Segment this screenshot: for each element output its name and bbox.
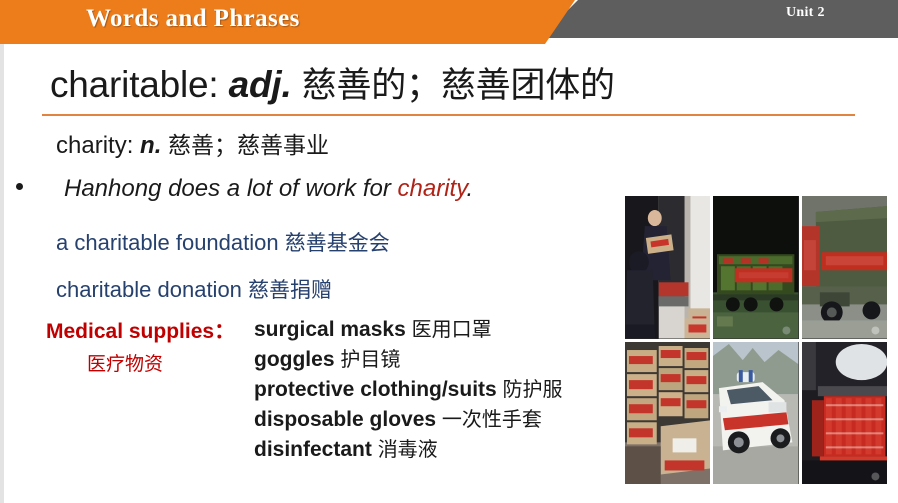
photo-stacked-boxes <box>625 342 710 485</box>
title-divider <box>42 114 855 116</box>
phrase-english: a charitable foundation <box>56 230 285 255</box>
medical-supplies-label: Medical supplies： <box>46 315 235 345</box>
sentence-before: Hanhong does a lot of work for <box>64 175 398 202</box>
subword-term: charity: <box>56 132 133 159</box>
medical-supplies-colon: ： <box>214 319 235 343</box>
supply-english: surgical masks <box>254 318 412 341</box>
medical-supplies-list: surgical masks 医用口罩 goggles 护目镜 protecti… <box>254 314 563 464</box>
supply-english: goggles <box>254 348 340 371</box>
header-gray-band <box>540 0 898 38</box>
headword: charitable: adj. 慈善的；慈善团体的 <box>50 57 615 108</box>
supply-chinese: 消毒液 <box>378 437 438 461</box>
supply-chinese: 护目镜 <box>340 347 400 371</box>
photo-ambulance <box>713 342 798 485</box>
supply-chinese: 一次性手套 <box>442 407 542 431</box>
medical-supplies-label-text: Medical supplies <box>46 320 214 343</box>
headword-pos: adj. <box>229 64 292 105</box>
phrase-chinese: 慈善基金会 <box>285 231 390 255</box>
photo-volunteer-loading-truck <box>625 196 710 339</box>
phrase-english: charitable donation <box>56 277 248 302</box>
headword-chinese: 慈善的；慈善团体的 <box>302 66 615 106</box>
list-item: disposable gloves 一次性手套 <box>254 404 563 434</box>
supply-english: disposable gloves <box>254 408 442 431</box>
phrase-charitable-donation: charitable donation 慈善捐赠 <box>56 274 332 304</box>
supply-chinese: 医用口罩 <box>412 317 492 341</box>
supply-chinese: 防护服 <box>503 377 563 401</box>
subword: charity: n. 慈善；慈善事业 <box>56 126 329 160</box>
photo-red-crates <box>802 342 887 485</box>
headword-term: charitable: <box>50 64 219 105</box>
list-item: disinfectant 消毒液 <box>254 434 563 464</box>
page-title: Words and Phrases <box>86 5 300 33</box>
supply-english: protective clothing/suits <box>254 378 503 401</box>
subword-chinese: 慈善；慈善事业 <box>168 133 329 159</box>
example-sentence: Hanhong does a lot of work for charity. <box>64 175 473 203</box>
sentence-highlight: charity <box>398 175 467 202</box>
photo-truck-with-red-banner <box>713 196 798 339</box>
sentence-after: . <box>466 175 473 202</box>
medical-supplies-label-chinese: 医疗物资 <box>87 349 163 376</box>
left-edge-strip <box>0 44 4 503</box>
unit-label: Unit 2 <box>786 5 825 21</box>
slide-header: Words and Phrases Unit 2 <box>0 0 898 44</box>
photo-grid <box>625 196 887 484</box>
list-item: goggles 护目镜 <box>254 344 563 374</box>
list-item: surgical masks 医用口罩 <box>254 314 563 344</box>
subword-pos: n. <box>140 132 161 159</box>
list-item: protective clothing/suits 防护服 <box>254 374 563 404</box>
slide: Words and Phrases Unit 2 charitable: adj… <box>0 0 898 503</box>
phrase-chinese: 慈善捐赠 <box>248 278 332 302</box>
supply-english: disinfectant <box>254 438 378 461</box>
bullet-icon <box>16 183 23 190</box>
phrase-charitable-foundation: a charitable foundation 慈善基金会 <box>56 227 390 257</box>
photo-green-truck-banner <box>802 196 887 339</box>
